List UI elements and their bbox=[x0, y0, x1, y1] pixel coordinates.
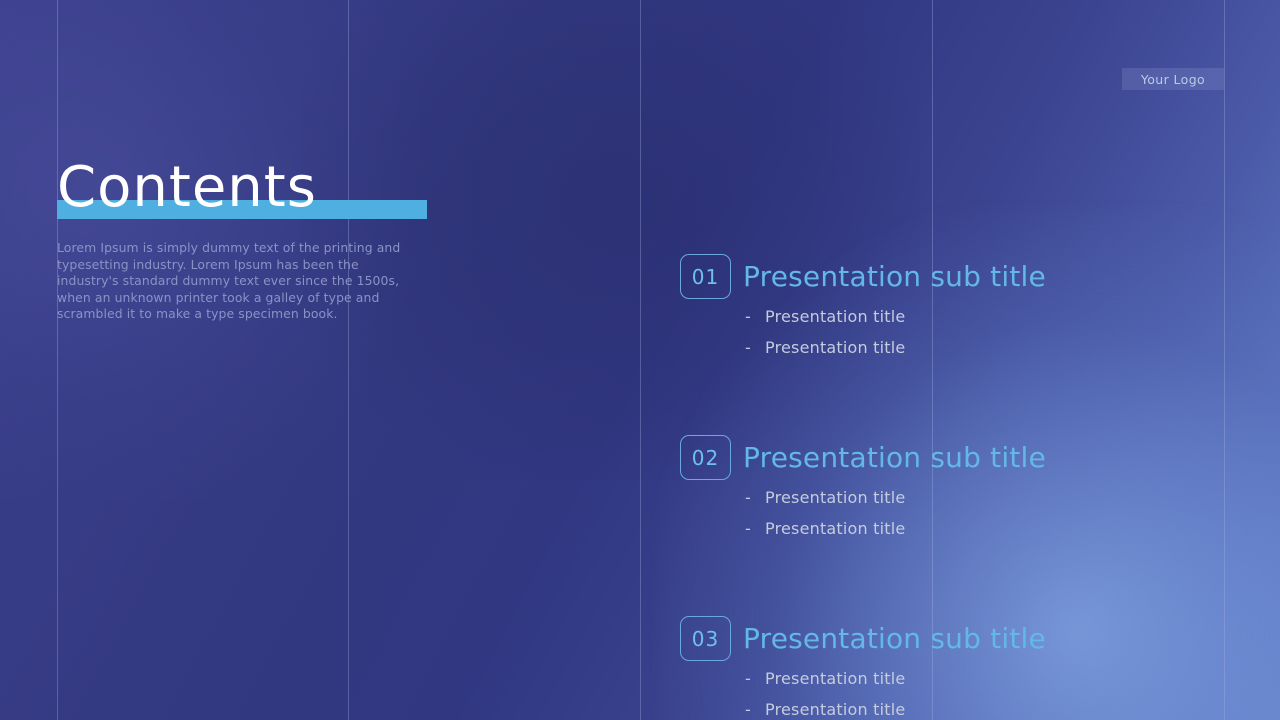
bullet-item[interactable]: - Presentation title bbox=[745, 519, 1046, 550]
entry-number-badge: 01 bbox=[680, 254, 731, 299]
bullet-label: Presentation title bbox=[765, 519, 905, 538]
contents-entry[interactable]: 01 Presentation sub title - Presentation… bbox=[680, 254, 1046, 369]
page-title: Contents bbox=[57, 160, 477, 216]
bullet-label: Presentation title bbox=[765, 669, 905, 688]
entry-number-label: 02 bbox=[692, 446, 719, 470]
bullet-dash-icon: - bbox=[745, 488, 765, 507]
bullet-dash-icon: - bbox=[745, 700, 765, 719]
contents-entry-header: 02 Presentation sub title bbox=[680, 435, 1046, 480]
entry-subtitle: Presentation sub title bbox=[743, 624, 1046, 654]
slide-title-block: Contents bbox=[57, 160, 477, 216]
bullet-dash-icon: - bbox=[745, 669, 765, 688]
entry-subtitle: Presentation sub title bbox=[743, 443, 1046, 473]
contents-entry[interactable]: 02 Presentation sub title - Presentation… bbox=[680, 435, 1046, 550]
entry-bullet-list: - Presentation title - Presentation titl… bbox=[745, 488, 1046, 550]
entry-number-label: 03 bbox=[692, 627, 719, 651]
logo-placeholder[interactable]: Your Logo bbox=[1122, 68, 1224, 90]
bullet-dash-icon: - bbox=[745, 338, 765, 357]
bullet-item[interactable]: - Presentation title bbox=[745, 338, 1046, 369]
bullet-label: Presentation title bbox=[765, 700, 905, 719]
entry-number-badge: 02 bbox=[680, 435, 731, 480]
contents-entry-header: 03 Presentation sub title bbox=[680, 616, 1046, 661]
contents-entry-header: 01 Presentation sub title bbox=[680, 254, 1046, 299]
entry-bullet-list: - Presentation title - Presentation titl… bbox=[745, 669, 1046, 720]
bullet-label: Presentation title bbox=[765, 338, 905, 357]
bullet-item[interactable]: - Presentation title bbox=[745, 700, 1046, 720]
bullet-item[interactable]: - Presentation title bbox=[745, 307, 1046, 338]
guide-line-3 bbox=[640, 0, 641, 720]
bullet-item[interactable]: - Presentation title bbox=[745, 488, 1046, 519]
contents-list: 01 Presentation sub title - Presentation… bbox=[680, 254, 1046, 720]
bullet-dash-icon: - bbox=[745, 519, 765, 538]
entry-number-badge: 03 bbox=[680, 616, 731, 661]
contents-entry[interactable]: 03 Presentation sub title - Presentation… bbox=[680, 616, 1046, 720]
entry-bullet-list: - Presentation title - Presentation titl… bbox=[745, 307, 1046, 369]
presentation-slide: Your Logo Contents Lorem Ipsum is simply… bbox=[0, 0, 1280, 720]
entry-subtitle: Presentation sub title bbox=[743, 262, 1046, 292]
logo-label: Your Logo bbox=[1141, 72, 1205, 87]
guide-line-5 bbox=[1224, 0, 1225, 720]
bullet-dash-icon: - bbox=[745, 307, 765, 326]
bullet-label: Presentation title bbox=[765, 488, 905, 507]
guide-line-2 bbox=[348, 0, 349, 720]
bullet-label: Presentation title bbox=[765, 307, 905, 326]
bullet-item[interactable]: - Presentation title bbox=[745, 669, 1046, 700]
guide-line-1 bbox=[57, 0, 58, 720]
lead-paragraph: Lorem Ipsum is simply dummy text of the … bbox=[57, 240, 409, 323]
entry-number-label: 01 bbox=[692, 265, 719, 289]
